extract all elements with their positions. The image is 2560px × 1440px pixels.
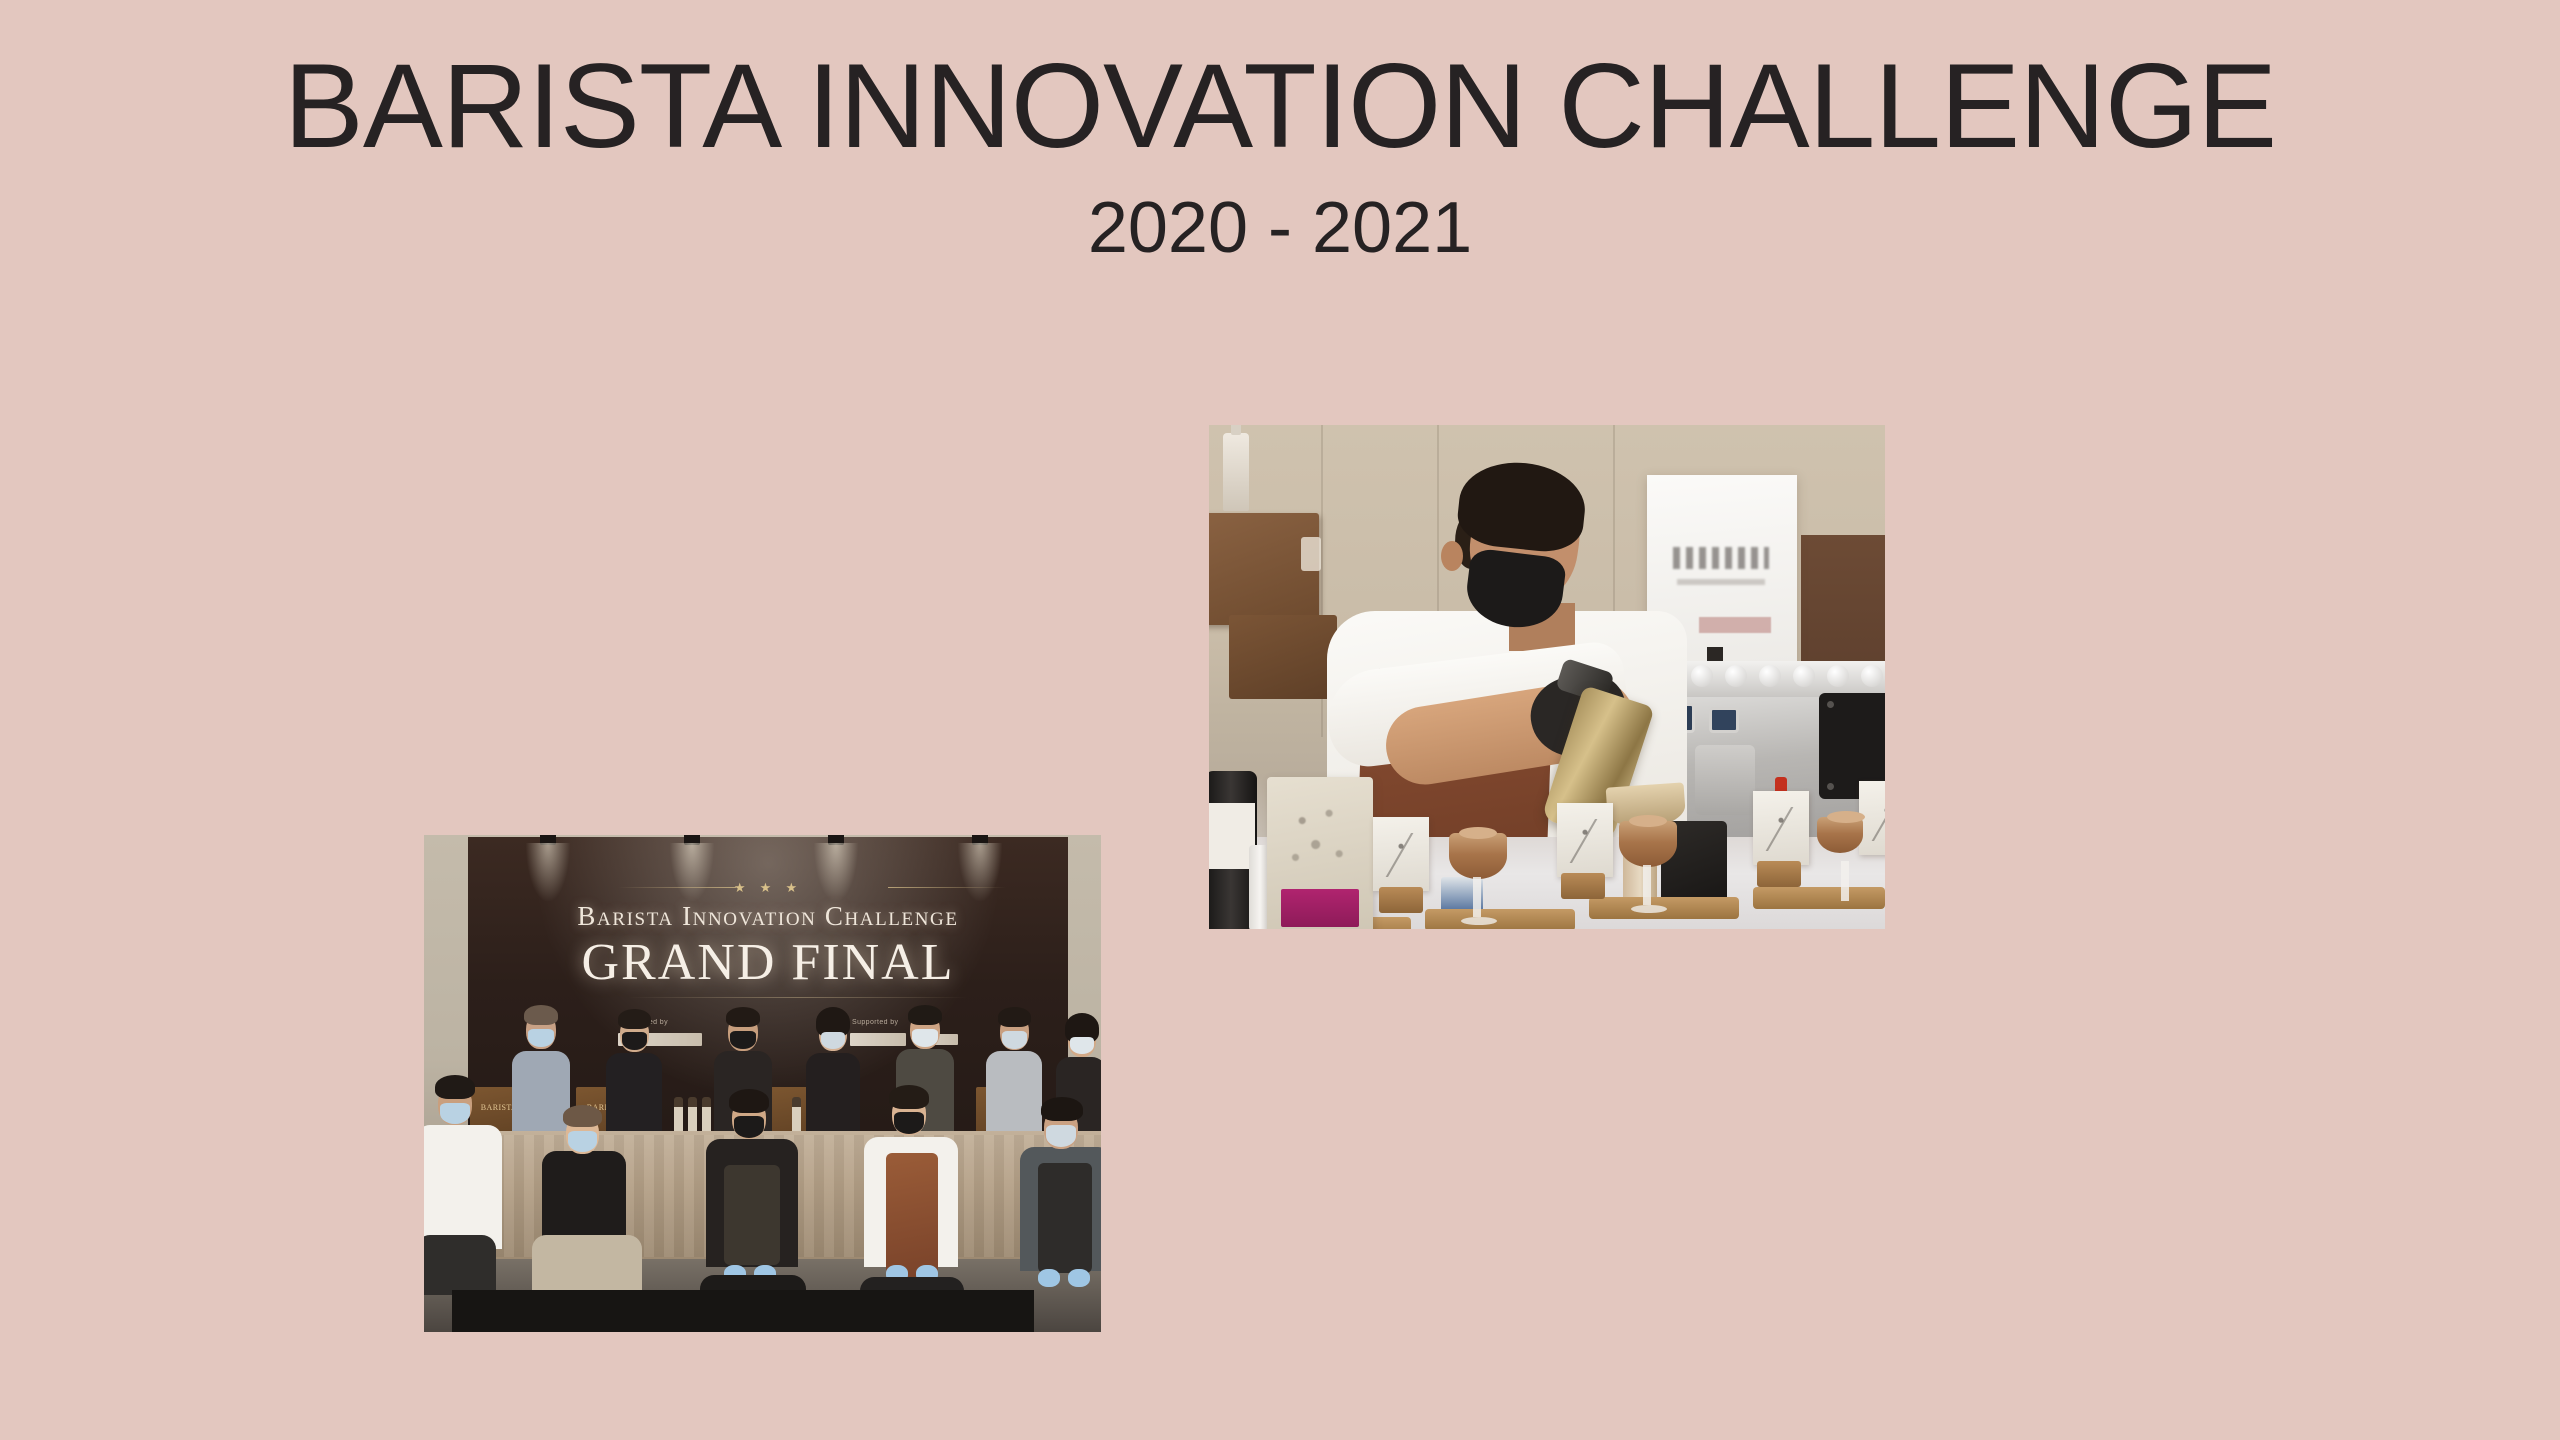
signboard-subtext — [1677, 579, 1765, 585]
person-hair — [908, 1005, 942, 1025]
group-photo-canvas: ★ ★ ★ Barista Innovation Challenge GRAND… — [424, 835, 1101, 1332]
black-face-mask — [894, 1112, 924, 1134]
warming-cup — [1861, 665, 1883, 687]
surgical-mask — [528, 1029, 554, 1047]
panel-screw — [1827, 701, 1834, 708]
panel-screw — [1827, 783, 1834, 790]
coffee-coupe-glass — [1449, 833, 1507, 879]
surgical-mask — [1070, 1037, 1094, 1054]
card-sketch — [1870, 797, 1885, 841]
grand-final-group-photo: ★ ★ ★ Barista Innovation Challenge GRAND… — [424, 835, 1101, 1332]
backdrop-supported-label: Supported by — [852, 1019, 898, 1026]
person-hair — [889, 1085, 929, 1109]
backdrop-stars: ★ ★ ★ — [468, 881, 1068, 896]
signboard-color-bar — [1699, 617, 1771, 633]
surgical-mask — [1046, 1125, 1076, 1147]
tasting-card — [1557, 803, 1613, 877]
shelf-jar — [1301, 537, 1321, 571]
shelf-bottle — [1223, 433, 1249, 511]
supporter-logo — [850, 1033, 906, 1046]
signboard-logo — [1673, 547, 1769, 569]
title-block: BARISTA INNOVATION CHALLENGE 2020 - 2021 — [0, 0, 2560, 264]
card-stand — [1561, 873, 1605, 899]
warming-cup — [1793, 665, 1815, 687]
surgical-mask — [440, 1103, 470, 1124]
person-apron — [724, 1165, 780, 1265]
backdrop-title-line-1: Barista Innovation Challenge — [468, 901, 1068, 932]
warming-cup — [1725, 665, 1747, 687]
page-title: BARISTA INNOVATION CHALLENGE — [0, 46, 2560, 166]
card-stand — [1379, 887, 1423, 913]
tasting-card — [1753, 791, 1809, 865]
glass-foot — [1631, 905, 1667, 913]
person-top — [424, 1125, 502, 1249]
person-cap — [1041, 1097, 1083, 1121]
wooden-serving-board — [1425, 909, 1575, 929]
backdrop-rule — [628, 997, 968, 998]
person-hair — [998, 1007, 1031, 1027]
card-sketch — [1764, 807, 1798, 851]
coffee-coupe-glass — [1619, 821, 1677, 867]
person-hair — [618, 1009, 651, 1029]
card-sketch — [1568, 819, 1602, 863]
wooden-shelf-box — [1229, 615, 1337, 699]
wooden-serving-board — [1753, 887, 1885, 909]
warming-cup — [1759, 665, 1781, 687]
barista-ear — [1441, 541, 1463, 571]
person-hair — [524, 1005, 558, 1025]
black-face-mask — [622, 1032, 647, 1050]
coffee-bag-illustration — [1277, 793, 1361, 885]
warming-cup — [1691, 665, 1713, 687]
page-subtitle: 2020 - 2021 — [0, 192, 2560, 264]
glass-foot — [1461, 917, 1497, 925]
backdrop-title-line-2: GRAND FINAL — [468, 933, 1068, 992]
machine-gauge — [1709, 707, 1739, 733]
machine-group-head — [1695, 745, 1755, 815]
coffee-coupe-glass — [1817, 817, 1863, 853]
person-hair — [726, 1007, 760, 1027]
barista-competition-photo — [1209, 425, 1885, 929]
black-face-mask — [730, 1031, 756, 1049]
tasting-card — [1373, 817, 1429, 891]
person-hair — [729, 1089, 769, 1113]
surgical-mask — [1002, 1031, 1027, 1049]
card-sketch — [1384, 833, 1418, 877]
card-stand — [1757, 861, 1801, 887]
surgical-mask — [821, 1032, 845, 1049]
black-face-mask — [734, 1116, 764, 1138]
barista-photo-canvas — [1209, 425, 1885, 929]
surgical-mask — [912, 1029, 938, 1047]
surgical-mask — [568, 1131, 597, 1152]
person-hair — [435, 1075, 475, 1099]
coffee-bag-magenta-label — [1281, 889, 1359, 927]
stage-floor-shadow — [452, 1290, 1034, 1332]
person-hair — [563, 1105, 602, 1127]
warming-cup — [1827, 665, 1849, 687]
